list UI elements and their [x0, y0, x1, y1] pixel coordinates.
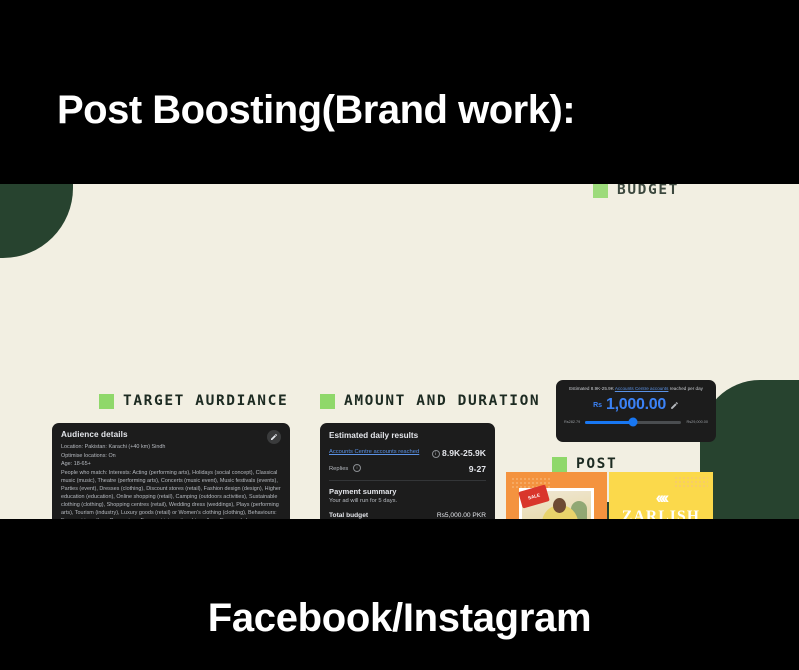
info-icon[interactable]: i [353, 464, 361, 472]
result-row-reach: Accounts Centre accounts reached i 8.9K-… [329, 448, 486, 458]
section-label: AMOUNT AND DURATION [344, 393, 540, 409]
budget-estimate-range: 8.9K-25.9K [591, 386, 614, 391]
section-heading-amount-duration: AMOUNT AND DURATION [320, 393, 540, 409]
accounts-centre-link[interactable]: Accounts Centre accounts [615, 386, 669, 391]
green-square-icon [99, 394, 114, 409]
slider-track[interactable] [585, 421, 681, 424]
chevron-left-icon: ‹‹‹‹ [609, 488, 713, 508]
audience-line: Optimise locations: On [61, 452, 281, 460]
slider-handle[interactable] [629, 418, 638, 427]
section-heading-target-audience: TARGET AURDIANCE [99, 393, 288, 409]
section-heading-post: POST [552, 456, 617, 472]
payment-run-note: Your ad will run for 5 days. [329, 498, 486, 504]
slider-max-label: Rs29,000.00 [686, 420, 708, 424]
section-label: BUDGET [617, 184, 679, 198]
budget-slider-card: Estimated 8.9K-25.9K Accounts Centre acc… [556, 380, 716, 442]
audience-line: Age: 18-65+ [61, 460, 281, 468]
slide-screenshot: Post Boosting(Brand work): TARGET AURDIA… [0, 0, 799, 670]
audience-line: Location: Pakistan: Karachi (+40 km) Sin… [61, 443, 281, 451]
result-row-value: 9-27 [469, 464, 486, 474]
section-heading-budget: BUDGET [593, 184, 679, 198]
result-row-replies: Replies i 9-27 [329, 464, 486, 474]
post-creative-yellow[interactable]: ‹‹‹‹ ZARLISH TREADS SALE 50% ● @zarlish.… [609, 472, 713, 519]
audience-line: People who match: Interests: Acting (per… [61, 469, 281, 519]
slider-fill [585, 421, 633, 424]
result-row-value: i 8.9K-25.9K [429, 448, 486, 458]
accounts-centre-link[interactable]: Accounts Centre accounts reached [329, 449, 419, 455]
result-row-label: Accounts Centre accounts reached [329, 448, 419, 456]
budget-estimate-text: Estimated 8.9K-25.9K Accounts Centre acc… [564, 386, 708, 392]
section-label: TARGET AURDIANCE [123, 393, 288, 409]
section-label: POST [576, 456, 617, 472]
info-icon[interactable]: i [432, 450, 440, 458]
result-row-label: Replies i [329, 464, 361, 473]
decor-top-left [0, 184, 73, 258]
total-budget-row: Total budget Rs5,000.00 PKR [329, 512, 486, 519]
budget-amount-row: Rs 1,000.00 [564, 396, 708, 414]
green-square-icon [320, 394, 335, 409]
product-photo: SALE ZARLISH [519, 488, 594, 519]
pencil-icon[interactable] [267, 430, 281, 444]
model-head [553, 498, 566, 513]
post-creative-orange[interactable]: SALE ZARLISH 100% Fabric ››› [506, 472, 607, 519]
total-budget-value: Rs5,000.00 PKR [437, 512, 486, 519]
budget-amount: 1,000.00 [606, 396, 666, 414]
presentation-slide: TARGET AURDIANCE Audience details Locati… [0, 184, 799, 519]
total-budget-label: Total budget [329, 512, 368, 519]
pencil-icon[interactable] [670, 401, 679, 410]
dot-pattern [674, 476, 708, 487]
green-square-icon [552, 457, 567, 472]
audience-card-title: Audience details [61, 430, 281, 439]
payment-summary-title: Payment summary [329, 487, 486, 496]
divider [329, 480, 486, 481]
audience-details-card: Audience details Location: Pakistan: Kar… [52, 423, 290, 519]
page-footer: Facebook/Instagram [0, 596, 799, 641]
page-title: Post Boosting(Brand work): [57, 88, 757, 133]
brand-name: ZARLISH [609, 508, 713, 519]
estimated-results-card: Estimated daily results Accounts Centre … [320, 423, 495, 519]
audience-details-body: Location: Pakistan: Karachi (+40 km) Sin… [61, 443, 281, 519]
results-card-title: Estimated daily results [329, 431, 486, 440]
budget-slider[interactable]: Rs282.79 Rs29,000.00 [564, 420, 708, 424]
slider-min-label: Rs282.79 [564, 420, 580, 424]
reach-value: 8.9K-25.9K [442, 448, 486, 458]
green-square-icon [593, 184, 608, 198]
currency-label: Rs [593, 402, 602, 409]
sale-badge: SALE [518, 484, 550, 508]
